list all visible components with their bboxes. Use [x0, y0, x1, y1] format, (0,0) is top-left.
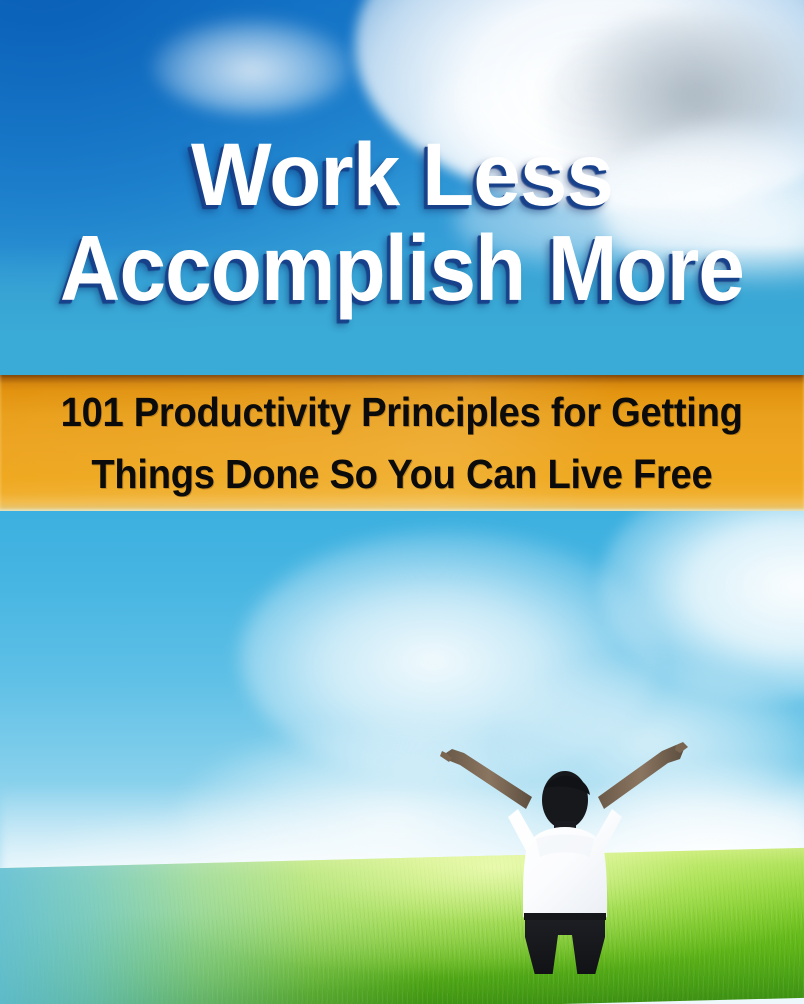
cloud-small-left-icon: [152, 18, 352, 114]
ebook-cover: Work Less Accomplish More 101 Productivi…: [0, 0, 804, 1004]
left-arm: [440, 749, 532, 809]
grass-blue-wash: [0, 857, 426, 1004]
subtitle-band: 101 Productivity Principles for Getting …: [0, 375, 804, 511]
subtitle-line-1: 101 Productivity Principles for Getting: [61, 381, 743, 443]
top-sky-photo: [0, 0, 804, 375]
bottom-photo: [0, 511, 804, 1004]
sky-flat-overlay: [0, 245, 804, 375]
person-figure: [440, 739, 690, 974]
pants: [525, 915, 605, 974]
right-arm: [598, 742, 688, 809]
subtitle-text-group: 101 Productivity Principles for Getting …: [0, 375, 804, 511]
subtitle-line-2: Things Done So You Can Live Free: [91, 443, 712, 505]
